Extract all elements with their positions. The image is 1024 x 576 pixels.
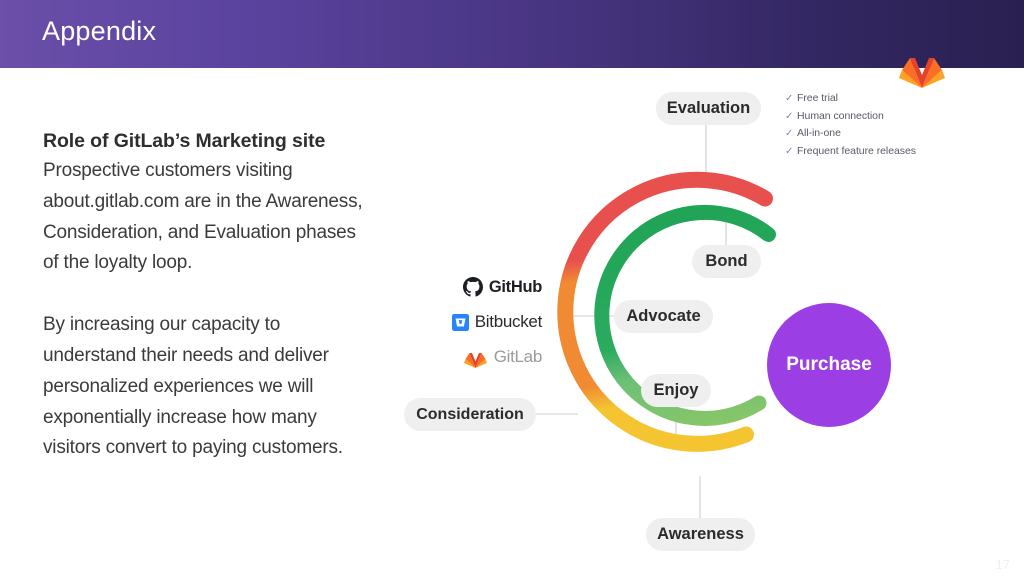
checklist-item-label: Free trial xyxy=(797,92,838,105)
brand-bitbucket: Bitbucket xyxy=(434,307,542,337)
stage-pill-consideration[interactable]: Consideration xyxy=(404,398,536,431)
checklist-item: ✓ Free trial xyxy=(785,92,955,105)
brand-gitlab: GitLab xyxy=(440,342,542,372)
checklist-item: ✓ All-in-one xyxy=(785,127,955,140)
brand-label-bitbucket: Bitbucket xyxy=(475,312,542,332)
copy-paragraph-1: Prospective customers visiting about.git… xyxy=(43,156,373,279)
page-number: 17 xyxy=(996,557,1010,572)
brand-label-github: GitHub xyxy=(489,278,542,297)
stage-pill-enjoy[interactable]: Enjoy xyxy=(641,374,711,407)
brand-label-gitlab: GitLab xyxy=(494,347,542,367)
check-mark-icon: ✓ xyxy=(785,110,797,123)
page-title: Appendix xyxy=(42,16,156,47)
copy-heading: Role of GitLab’s Marketing site xyxy=(43,128,373,154)
copy-paragraph-2: By increasing our capacity to understand… xyxy=(43,310,373,464)
checklist-item: ✓ Human connection xyxy=(785,110,955,123)
slide-header: Appendix xyxy=(0,0,1024,68)
check-mark-icon: ✓ xyxy=(785,92,797,105)
stage-pill-advocate[interactable]: Advocate xyxy=(614,300,713,333)
benefits-checklist: ✓ Free trial ✓ Human connection ✓ All-in… xyxy=(785,92,955,162)
check-mark-icon: ✓ xyxy=(785,127,797,140)
checklist-item-label: Human connection xyxy=(797,110,884,123)
bitbucket-icon xyxy=(452,314,469,331)
stage-pill-awareness[interactable]: Awareness xyxy=(646,518,755,551)
gitlab-fox-icon xyxy=(463,346,488,369)
brand-github: GitHub xyxy=(447,272,542,302)
slide-root: Appendix Role of GitLab’s Marketing site… xyxy=(0,0,1024,576)
copy-block: Role of GitLab’s Marketing site Prospect… xyxy=(43,128,373,464)
stage-pill-bond[interactable]: Bond xyxy=(692,245,761,278)
checklist-item: ✓ Frequent feature releases xyxy=(785,145,955,158)
purchase-node[interactable]: Purchase xyxy=(767,303,891,427)
github-octocat-icon xyxy=(463,277,483,297)
checklist-item-label: Frequent feature releases xyxy=(797,145,916,158)
competitor-brand-list: GitHub Bitbucket GitLab xyxy=(447,272,542,377)
check-mark-icon: ✓ xyxy=(785,145,797,158)
stage-pill-evaluation[interactable]: Evaluation xyxy=(656,92,761,125)
checklist-item-label: All-in-one xyxy=(797,127,841,140)
